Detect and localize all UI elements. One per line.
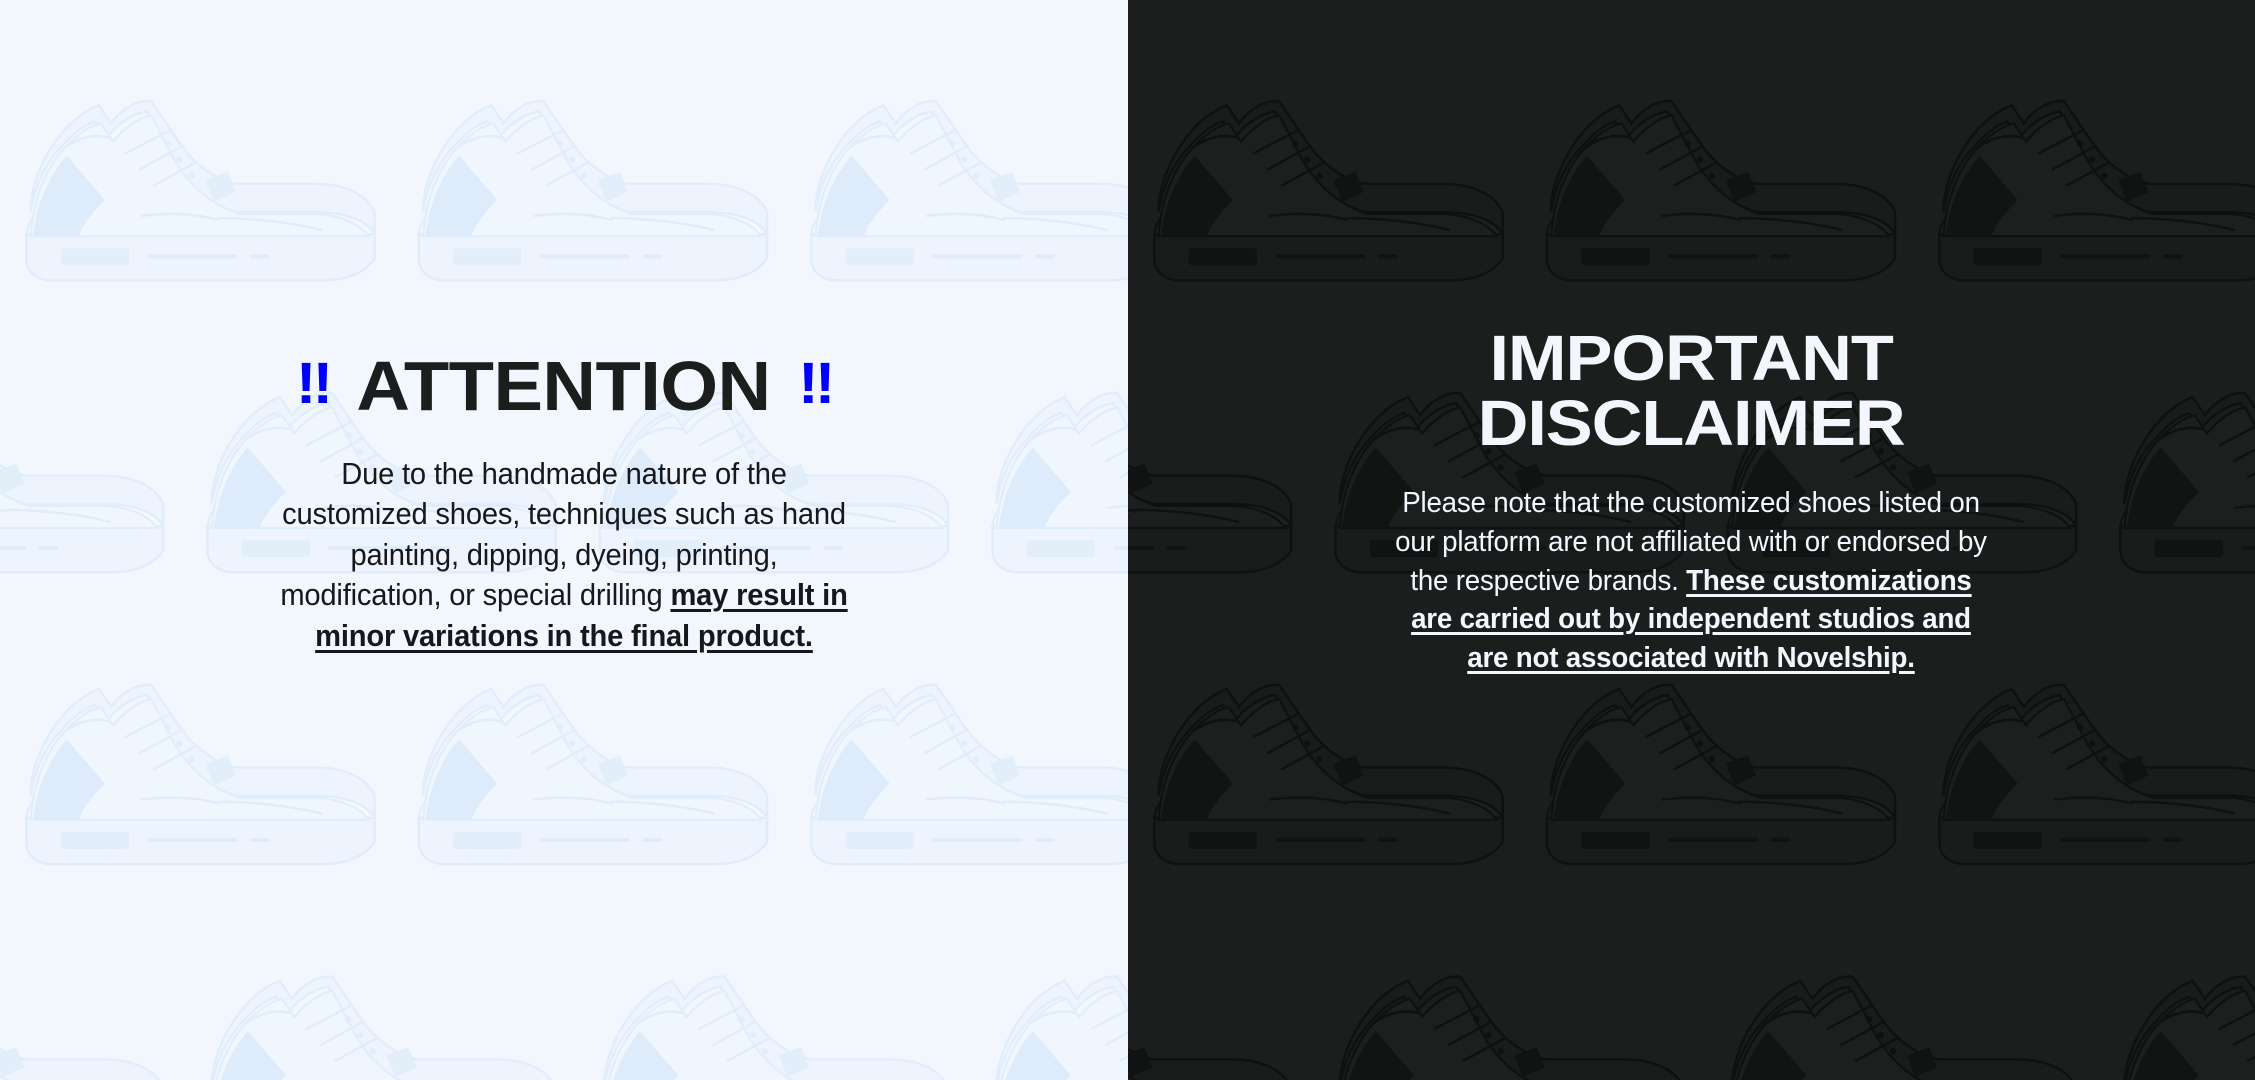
attention-content: ‼ ATTENTION ‼ Due to the handmade nature… [0, 0, 1128, 656]
attention-body: Due to the handmade nature of the custom… [268, 454, 860, 657]
disclaimer-body: Please note that the customized shoes li… [1395, 484, 1987, 677]
double-exclamation-left-icon: ‼ [296, 355, 329, 413]
attention-heading-text: ATTENTION [357, 352, 771, 421]
customization-notice-banner: ‼ ATTENTION ‼ Due to the handmade nature… [0, 0, 2255, 1080]
double-exclamation-right-icon: ‼ [798, 355, 831, 413]
disclaimer-panel: IMPORTANT DISCLAIMER Please note that th… [1128, 0, 2255, 1080]
disclaimer-heading-line-1: IMPORTANT [1490, 327, 1893, 390]
disclaimer-content: IMPORTANT DISCLAIMER Please note that th… [1128, 0, 2255, 677]
disclaimer-heading: IMPORTANT DISCLAIMER [1478, 327, 1905, 454]
disclaimer-heading-line-2: DISCLAIMER [1478, 392, 1905, 455]
attention-panel: ‼ ATTENTION ‼ Due to the handmade nature… [0, 0, 1128, 1080]
attention-heading: ‼ ATTENTION ‼ [296, 352, 831, 421]
